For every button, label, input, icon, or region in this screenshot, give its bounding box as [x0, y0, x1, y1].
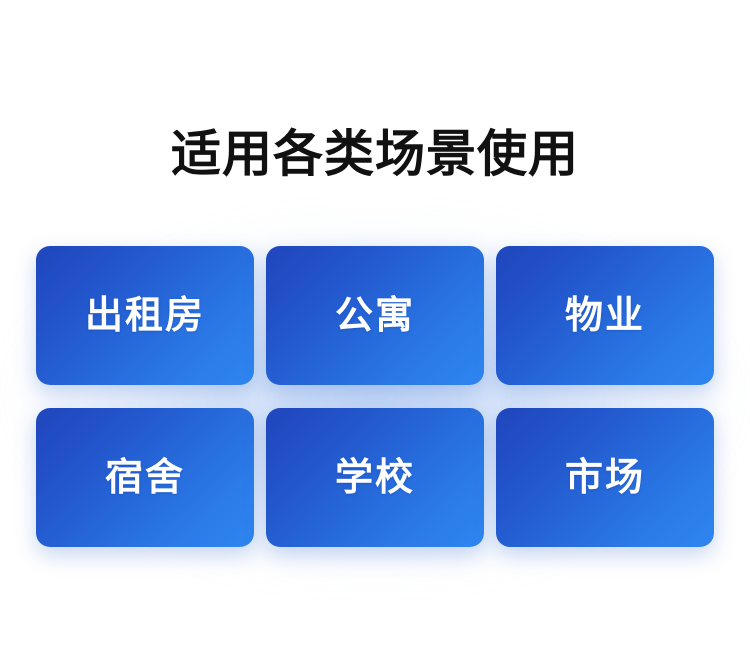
scene-card-label: 公寓	[335, 297, 415, 335]
scene-card-label: 宿舍	[105, 459, 185, 497]
scene-card-label: 市场	[565, 459, 645, 497]
scene-card-apartment[interactable]: 公寓	[266, 246, 484, 385]
page-title: 适用各类场景使用	[171, 126, 579, 182]
scene-card-property[interactable]: 物业	[496, 246, 714, 385]
scene-card-rental-house[interactable]: 出租房	[36, 246, 254, 385]
scene-showcase-page: 适用各类场景使用 出租房 公寓 物业 宿舍 学校 市场	[0, 0, 750, 650]
scene-card-label: 学校	[335, 459, 415, 497]
scene-card-school[interactable]: 学校	[266, 408, 484, 547]
scene-card-label: 物业	[565, 297, 645, 335]
scene-card-label: 出租房	[85, 297, 205, 335]
scene-card-dormitory[interactable]: 宿舍	[36, 408, 254, 547]
page-title-container: 适用各类场景使用	[0, 92, 750, 215]
scene-card-grid: 出租房 公寓 物业 宿舍 学校 市场	[36, 246, 714, 547]
scene-card-market[interactable]: 市场	[496, 408, 714, 547]
